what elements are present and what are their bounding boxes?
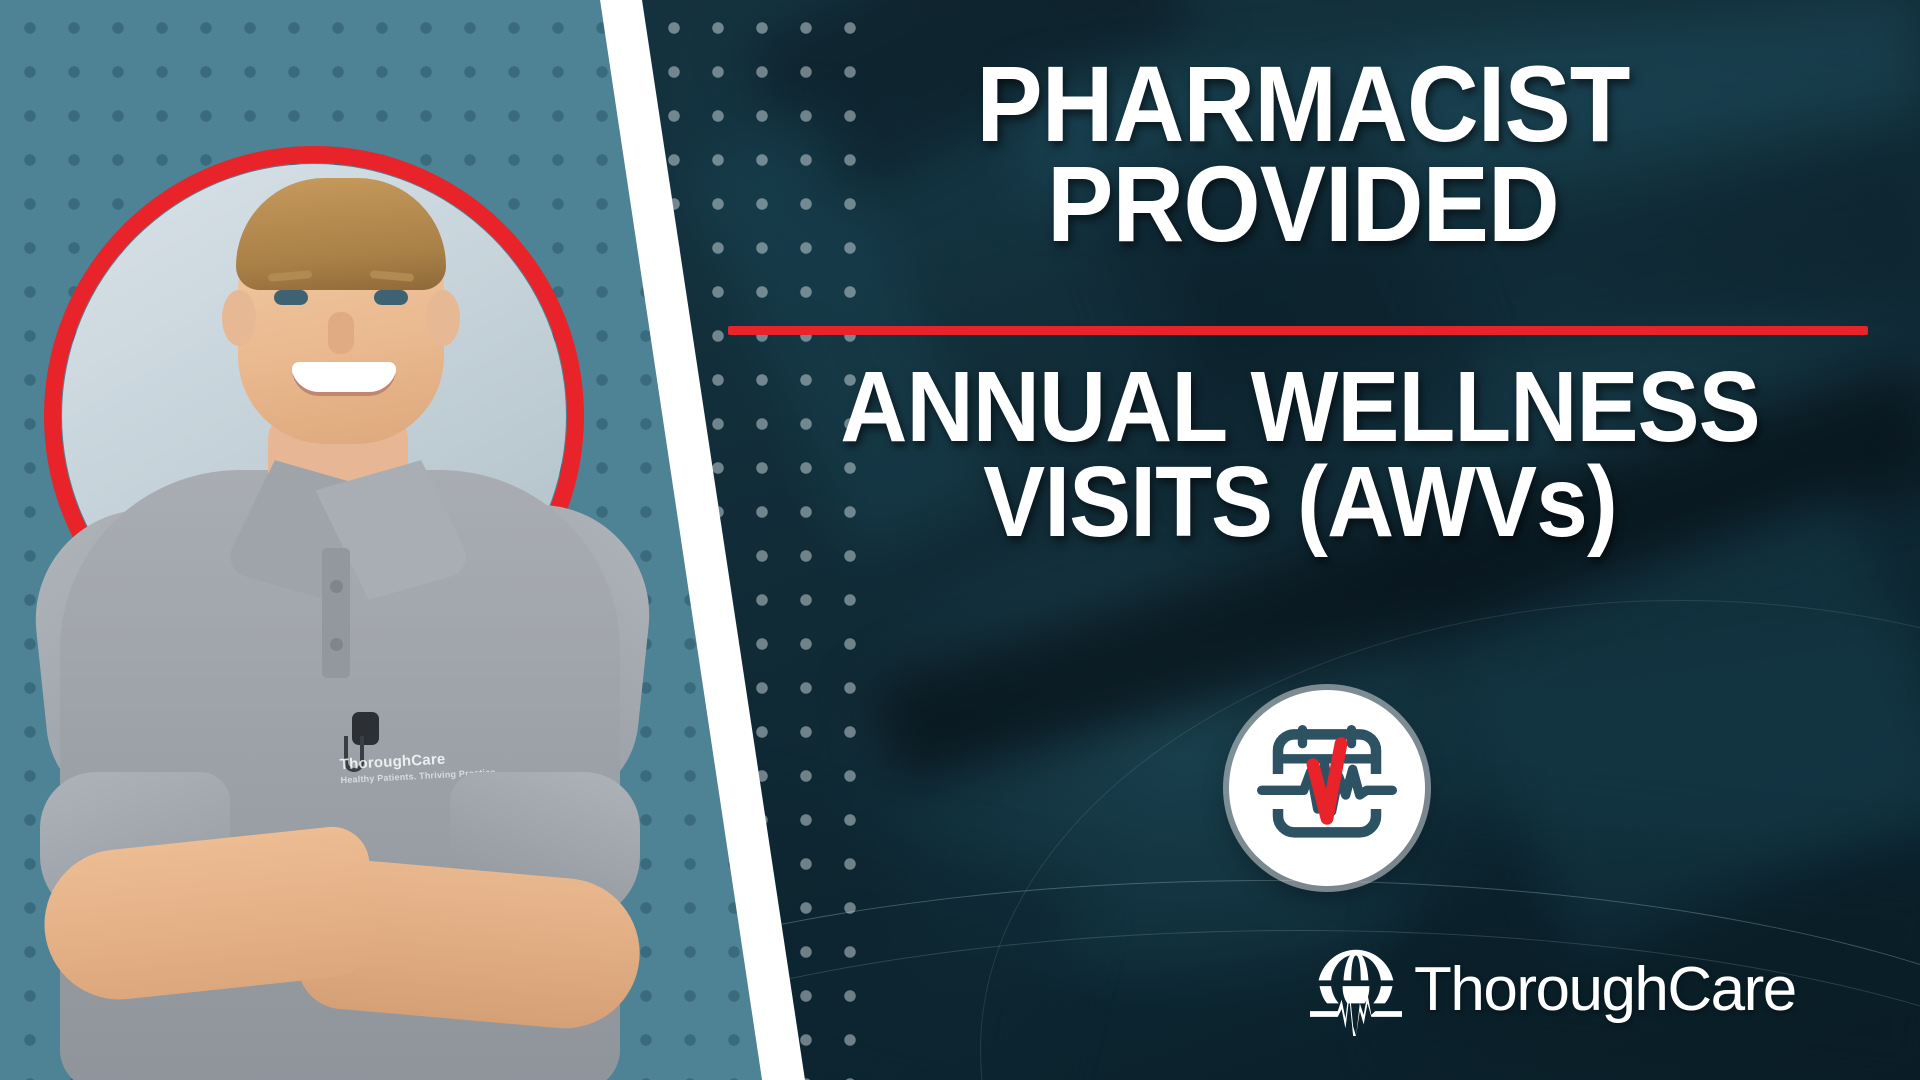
thoroughcare-logo: ThoroughCare <box>1308 944 1796 1036</box>
thoroughcare-globe-ekg-icon <box>1308 944 1404 1036</box>
subheadline-line-1: ANNUAL WELLNESS <box>742 360 1858 455</box>
calendar-ekg-icon <box>1257 718 1397 858</box>
subheadline-line-2: VISITS (AWVs) <box>742 455 1858 550</box>
polo-button <box>330 638 343 651</box>
headline-line-2: PROVIDED <box>774 154 1832 254</box>
red-divider-rule <box>728 326 1868 335</box>
headline-line-1: PHARMACIST <box>774 54 1832 154</box>
calendar-heartbeat-badge <box>1229 690 1425 886</box>
eye-left <box>274 290 308 305</box>
ear-left <box>222 290 256 346</box>
presenter-photo: ThoroughCare Healthy Patients. Thriving … <box>0 140 700 1080</box>
headline: PHARMACIST PROVIDED <box>728 54 1878 255</box>
hair <box>236 178 446 290</box>
polo-placket <box>322 548 350 678</box>
ear-right <box>426 290 460 346</box>
thumbnail-canvas: ThoroughCare Healthy Patients. Thriving … <box>0 0 1920 1080</box>
thoroughcare-wordmark: ThoroughCare <box>1414 959 1796 1021</box>
smile <box>292 362 396 396</box>
eye-right <box>374 290 408 305</box>
subheadline: ANNUAL WELLNESS VISITS (AWVs) <box>700 360 1900 550</box>
polo-button <box>330 580 343 593</box>
nose <box>328 312 354 354</box>
